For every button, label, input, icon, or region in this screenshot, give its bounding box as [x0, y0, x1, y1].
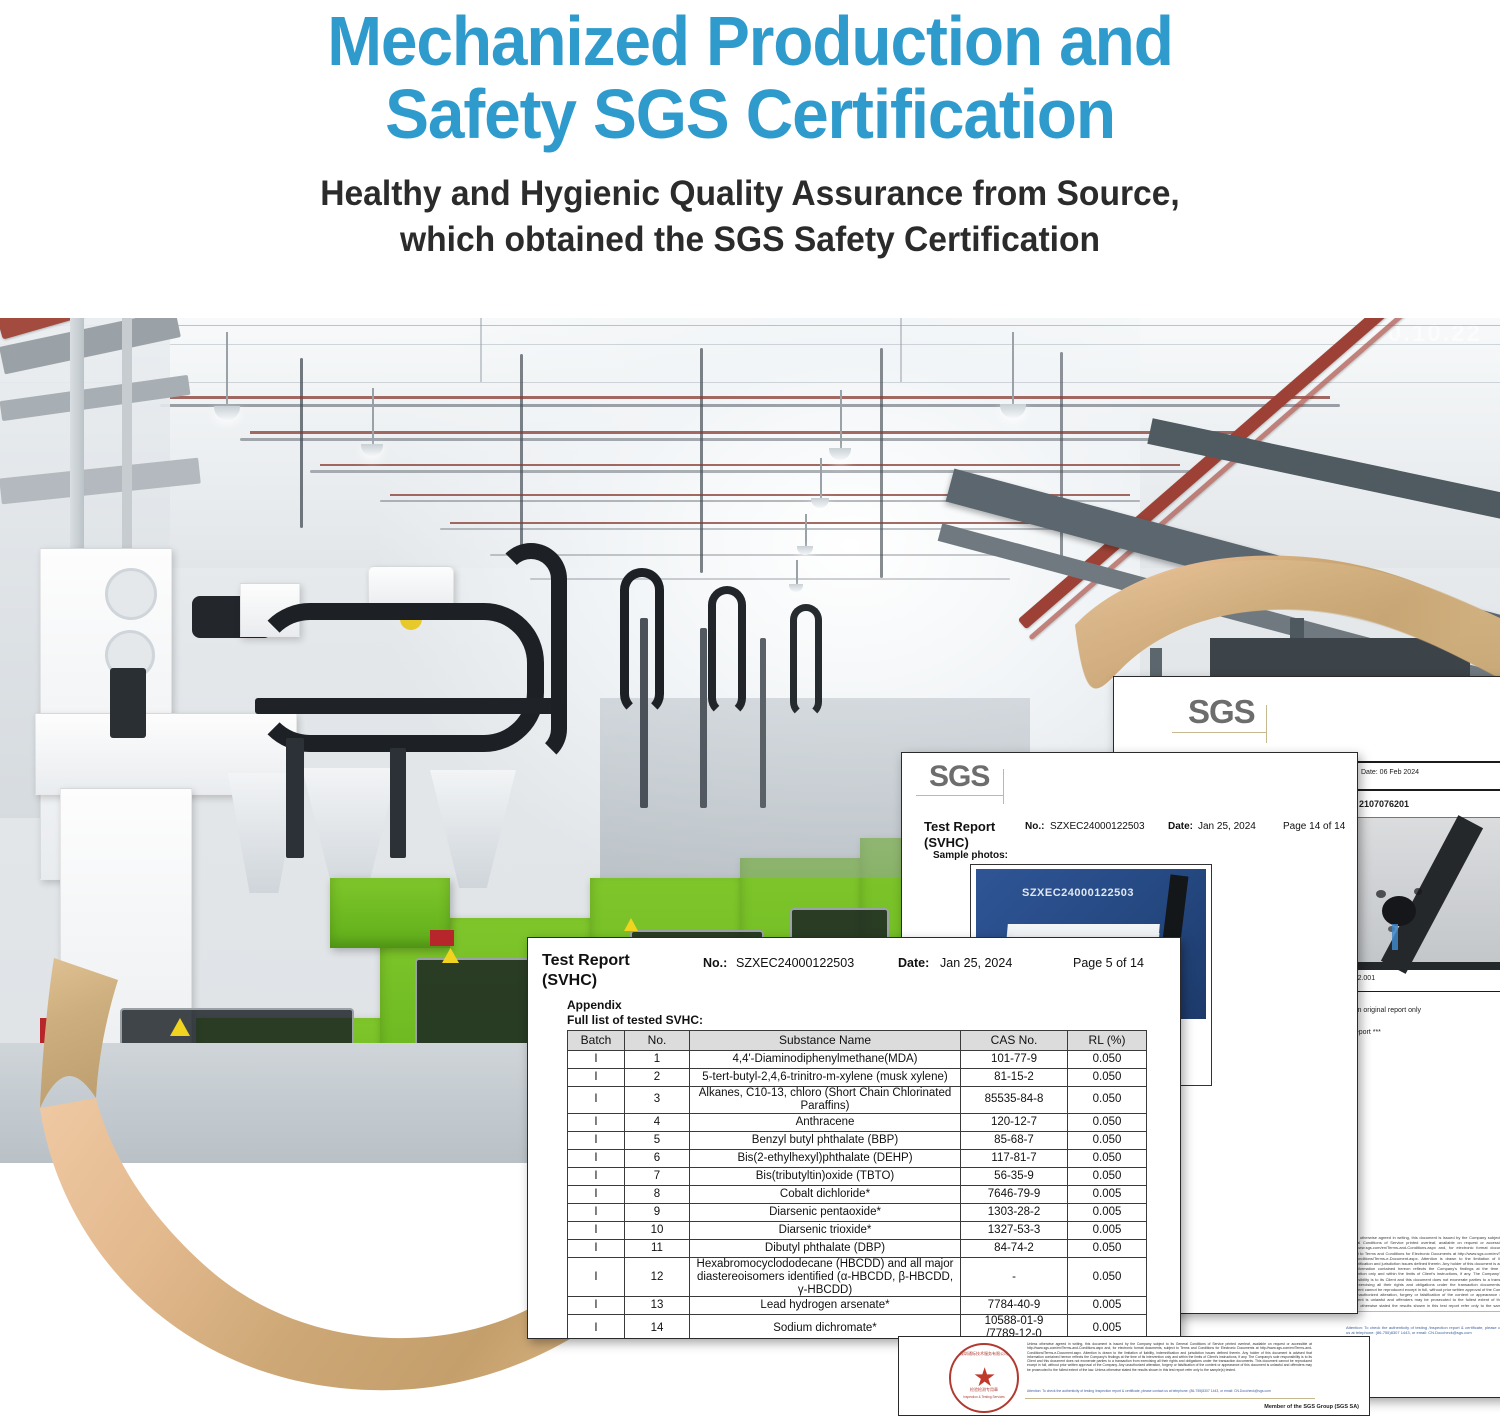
- front-report-appendix-label: Appendix: [567, 998, 622, 1012]
- cell-0-0: I: [568, 1051, 625, 1069]
- cell-7-0: I: [568, 1185, 625, 1203]
- table-row: I5Benzyl butyl phthalate (BBP)85-68-70.0…: [568, 1131, 1147, 1149]
- cell-13-1: 14: [625, 1315, 690, 1339]
- cell-9-3: 1327-53-3: [961, 1221, 1068, 1239]
- col-header-3: CAS No.: [961, 1031, 1068, 1051]
- table-row: I9Diarsenic pentaoxide*1303-28-20.005: [568, 1203, 1147, 1221]
- sgs-logo-vrule: [1266, 705, 1267, 743]
- cell-3-2: Anthracene: [690, 1113, 961, 1131]
- cell-11-3: -: [961, 1257, 1068, 1297]
- col-header-2: Substance Name: [690, 1031, 961, 1051]
- cell-6-4: 0.050: [1068, 1167, 1147, 1185]
- sgs-logo-back: SGS: [1188, 693, 1255, 731]
- cell-12-4: 0.005: [1068, 1297, 1147, 1315]
- table-row: I12Hexabromocyclododecane (HBCDD) and al…: [568, 1257, 1147, 1297]
- col-header-1: No.: [625, 1031, 690, 1051]
- cell-6-2: Bis(tributyltin)oxide (TBTO): [690, 1167, 961, 1185]
- page-subtitle-line1: Healthy and Hygienic Quality Assurance f…: [30, 173, 1470, 214]
- cell-7-1: 8: [625, 1185, 690, 1203]
- back-report-photo-caption: 2107076201: [1359, 799, 1409, 809]
- cell-10-1: 11: [625, 1239, 690, 1257]
- middle-report-no-value: SZXEC24000122503: [1050, 821, 1145, 832]
- cell-10-0: I: [568, 1239, 625, 1257]
- sgs-logo-rule: [1172, 732, 1267, 733]
- cell-8-4: 0.005: [1068, 1203, 1147, 1221]
- front-report-date-value: Jan 25, 2024: [940, 956, 1012, 970]
- sample-photo-ruler: [1357, 817, 1500, 969]
- footer-gold-rule: [1025, 1398, 1315, 1399]
- table-row: I10Diarsenic trioxide*1327-53-30.005: [568, 1221, 1147, 1239]
- footer-member-text: Member of the SGS Group (SGS SA): [1264, 1404, 1359, 1410]
- cell-0-3: 101-77-9: [961, 1051, 1068, 1069]
- table-row: I8Cobalt dichloride*7646-79-90.005: [568, 1185, 1147, 1203]
- footer-legal-text: Unless otherwise agreed in writing, this…: [1027, 1342, 1312, 1372]
- cell-8-0: I: [568, 1203, 625, 1221]
- cell-2-3: 85535-84-8: [961, 1087, 1068, 1114]
- back-report-attention-text: Attention: To check the authenticity of …: [1346, 1325, 1500, 1335]
- cell-4-2: Benzyl butyl phthalate (BBP): [690, 1131, 961, 1149]
- cell-0-2: 4,4'-Diaminodiphenylmethane(MDA): [690, 1051, 961, 1069]
- back-report-legal-text: Unless otherwise agreed in writing, this…: [1346, 1235, 1500, 1313]
- seal-text-sub: Inspection & Testing Services: [951, 1395, 1017, 1399]
- cell-9-0: I: [568, 1221, 625, 1239]
- report-footer-stamp-block: ★ 深圳通标技术服务有限公司 检验检测专用章 Inspection & Test…: [898, 1336, 1370, 1416]
- front-report-no-label: No.:: [703, 956, 727, 970]
- table-header-row: BatchNo.Substance NameCAS No.RL (%): [568, 1031, 1147, 1051]
- table-row: I6Bis(2-ethylhexyl)phthalate (DEHP)117-8…: [568, 1149, 1147, 1167]
- cell-4-4: 0.050: [1068, 1131, 1147, 1149]
- cell-6-0: I: [568, 1167, 625, 1185]
- table-row: I11Dibutyl phthalate (DBP)84-74-20.050: [568, 1239, 1147, 1257]
- cell-4-1: 5: [625, 1131, 690, 1149]
- seal-text-top: 深圳通标技术服务有限公司: [951, 1351, 1017, 1357]
- page-header: Mechanized Production and Safety SGS Cer…: [0, 0, 1500, 318]
- cell-3-3: 120-12-7: [961, 1113, 1068, 1131]
- cell-12-3: 7784-40-9: [961, 1297, 1068, 1315]
- cell-1-0: I: [568, 1069, 625, 1087]
- cell-8-3: 1303-28-2: [961, 1203, 1068, 1221]
- cell-10-3: 84-74-2: [961, 1239, 1068, 1257]
- cell-2-0: I: [568, 1087, 625, 1114]
- table-row: I14,4'-Diaminodiphenylmethane(MDA)101-77…: [568, 1051, 1147, 1069]
- front-report-title-line1: Test Report: [542, 952, 630, 970]
- cell-4-0: I: [568, 1131, 625, 1149]
- cell-12-2: Lead hydrogen arsenate*: [690, 1297, 961, 1315]
- footer-attention-text: Attention: To check the authenticity of …: [1027, 1389, 1312, 1393]
- cell-7-3: 7646-79-9: [961, 1185, 1068, 1203]
- cell-5-0: I: [568, 1149, 625, 1167]
- cell-10-2: Dibutyl phthalate (DBP): [690, 1239, 961, 1257]
- table-row: I7Bis(tributyltin)oxide (TBTO)56-35-90.0…: [568, 1167, 1147, 1185]
- cell-4-3: 85-68-7: [961, 1131, 1068, 1149]
- front-report-appendix-note: Full list of tested SVHC:: [567, 1013, 703, 1027]
- cell-1-4: 0.050: [1068, 1069, 1147, 1087]
- cell-7-4: 0.005: [1068, 1185, 1147, 1203]
- red-inspection-seal: ★ 深圳通标技术服务有限公司 检验检测专用章 Inspection & Test…: [949, 1343, 1019, 1413]
- page-title-line1: Mechanized Production and: [45, 6, 1455, 77]
- cell-0-4: 0.050: [1068, 1051, 1147, 1069]
- cell-2-4: 0.050: [1068, 1087, 1147, 1114]
- cell-2-2: Alkanes, C10-13, chloro (Short Chain Chl…: [690, 1087, 961, 1114]
- front-report-date-label: Date:: [898, 956, 929, 970]
- cell-11-1: 12: [625, 1257, 690, 1297]
- cell-1-3: 81-15-2: [961, 1069, 1068, 1087]
- cell-12-0: I: [568, 1297, 625, 1315]
- middle-report-sample-photos-label: Sample photos:: [933, 850, 1008, 861]
- table-row: I3Alkanes, C10-13, chloro (Short Chain C…: [568, 1087, 1147, 1114]
- sgs-logo-middle: SGS: [929, 760, 989, 794]
- front-report-page: Page 5 of 14: [1073, 956, 1144, 970]
- sgs-logo-rule-middle: [916, 795, 1004, 796]
- col-header-0: Batch: [568, 1031, 625, 1051]
- cell-3-0: I: [568, 1113, 625, 1131]
- cell-9-4: 0.005: [1068, 1221, 1147, 1239]
- cell-6-1: 7: [625, 1167, 690, 1185]
- svhc-substance-table: BatchNo.Substance NameCAS No.RL (%) I14,…: [567, 1030, 1147, 1339]
- middle-report-title-line2: (SVHC): [924, 835, 969, 850]
- cell-5-4: 0.050: [1068, 1149, 1147, 1167]
- cell-9-2: Diarsenic trioxide*: [690, 1221, 961, 1239]
- cell-3-1: 4: [625, 1113, 690, 1131]
- cell-5-2: Bis(2-ethylhexyl)phthalate (DEHP): [690, 1149, 961, 1167]
- cell-7-2: Cobalt dichloride*: [690, 1185, 961, 1203]
- cell-8-1: 9: [625, 1203, 690, 1221]
- seal-text-mid: 检验检测专用章: [951, 1387, 1017, 1393]
- cell-0-1: 1: [625, 1051, 690, 1069]
- middle-report-no-label: No.:: [1025, 821, 1044, 832]
- cell-5-1: 6: [625, 1149, 690, 1167]
- middle-report-title-line1: Test Report: [924, 819, 995, 834]
- middle-report-page: Page 14 of 14: [1283, 821, 1345, 832]
- col-header-4: RL (%): [1068, 1031, 1147, 1051]
- page-subtitle-line2: which obtained the SGS Safety Certificat…: [30, 219, 1470, 260]
- cell-11-2: Hexabromocyclododecane (HBCDD) and all m…: [690, 1257, 961, 1297]
- cell-11-4: 0.050: [1068, 1257, 1147, 1297]
- table-row: I13Lead hydrogen arsenate*7784-40-90.005: [568, 1297, 1147, 1315]
- cell-10-4: 0.050: [1068, 1239, 1147, 1257]
- cell-8-2: Diarsenic pentaoxide*: [690, 1203, 961, 1221]
- cell-11-0: I: [568, 1257, 625, 1297]
- cell-5-3: 117-81-7: [961, 1149, 1068, 1167]
- middle-report-date-label: Date:: [1168, 821, 1193, 832]
- cell-2-1: 3: [625, 1087, 690, 1114]
- sgs-logo-vrule-middle: [1003, 769, 1004, 804]
- middle-report-date-value: Jan 25, 2024: [1198, 821, 1256, 832]
- cell-12-1: 13: [625, 1297, 690, 1315]
- front-test-report-document[interactable]: Test Report (SVHC) No.: SZXEC24000122503…: [527, 937, 1181, 1339]
- cell-13-0: I: [568, 1315, 625, 1339]
- cell-3-4: 0.050: [1068, 1113, 1147, 1131]
- cell-9-1: 10: [625, 1221, 690, 1239]
- sample-photo-caption: SZXEC24000122503: [1022, 887, 1134, 899]
- front-report-title-line2: (SVHC): [542, 972, 597, 990]
- cell-6-3: 56-35-9: [961, 1167, 1068, 1185]
- front-report-no-value: SZXEC24000122503: [736, 956, 854, 970]
- table-row: I25-tert-butyl-2,4,6-trinitro-m-xylene (…: [568, 1069, 1147, 1087]
- back-report-date: Date: 06 Feb 2024: [1361, 769, 1419, 776]
- page-title-line2: Safety SGS Certification: [45, 79, 1455, 150]
- cell-1-1: 2: [625, 1069, 690, 1087]
- table-row: I4Anthracene120-12-70.050: [568, 1113, 1147, 1131]
- cell-1-2: 5-tert-butyl-2,4,6-trinitro-m-xylene (mu…: [690, 1069, 961, 1087]
